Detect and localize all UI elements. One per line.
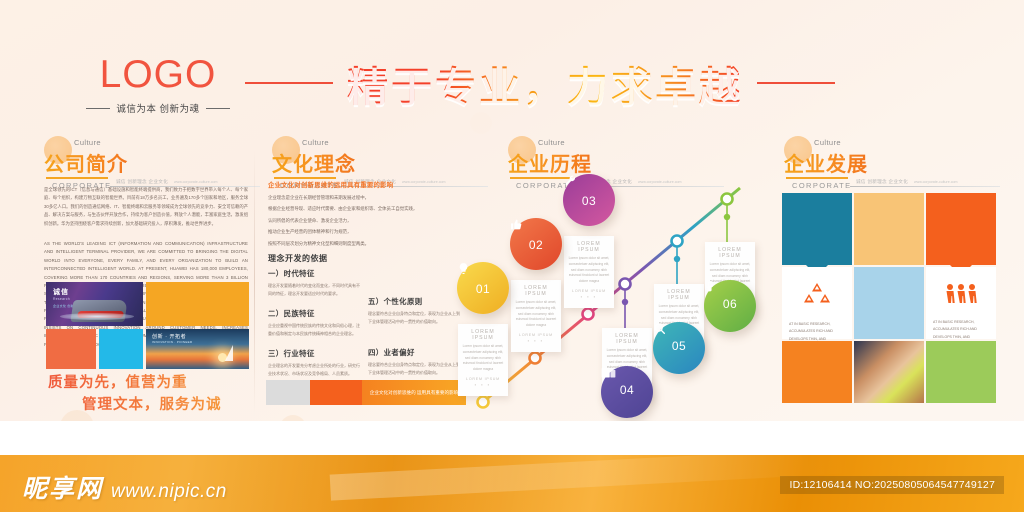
bar-segment-gray [266,380,310,405]
card-dots: ▪ ▪ ▪ [515,338,557,343]
card-heading: LOREM IPSUM [606,333,648,345]
culture-body: 企业理念是企业在长期经营管理和未期发展过程中， 根据企业经营导现、适应时代需要、… [268,192,458,249]
tile-green [926,341,996,403]
poster-canvas: LOGO 诚信为本 创新为魂 精于专业，力求卓越 Culture 公司简介 CO… [0,0,1024,512]
timeline-node-number: 01 [476,282,490,296]
section-title: 企业历程 [508,148,592,177]
section-tail-rule [850,186,1000,187]
section-header-company-history: Culture 企业历程 CORPORATE 诚信 创新理念 企业文化 www.… [508,140,592,177]
culture-body-line: 企业理念是企业在长期经营管理和未期发展过程中， [268,192,458,203]
timeline-node-06[interactable]: 06 [704,280,756,332]
timeline-node-number: 02 [529,238,543,252]
title-rule-left [245,82,333,84]
page-title: 精于专业，力求卓越 [347,53,743,113]
card-body: Lorem ipsum dolor sit amet, consectetuer… [462,344,504,373]
feature-title: 三）行业特征 [268,348,360,359]
section-title: 文化理念 [272,148,356,177]
photo-sunset-sailboat: 创新 · 开拓者 INNOVATION · PIONEER [146,329,249,369]
feature-item: 五）个性化原则 理念要符合企业自身特点和定位，表现为企业从上到下全体管理活动中的… [368,296,460,325]
watermark-brand-cn: 昵享网 [22,469,103,505]
tile-triangle-text: AT IN BASIC RESEARCH, ACCUMULATES RICH A… [782,267,852,339]
tile-lightblue [854,267,924,339]
timeline-card-01: LOREM IPSUM Lorem ipsum dolor sit amet, … [458,324,508,396]
footer-white-strip [0,421,1024,455]
photo-tech-sub: Research [53,297,70,301]
feature-body: 理念要符合企业自身特点和定位，表现为企业从上到下全体管理活动中的一贯性的价值取向… [368,361,460,376]
logo-block: LOGO 诚信为本 创新为魂 [58,55,258,115]
card-heading: LOREM IPSUM [515,285,557,297]
timeline-node-05[interactable]: 05 [653,322,705,374]
feature-body: 理念要符合企业自身特点和定位，表现为企业从上到下全体管理活动中的一贯性的价值取向… [368,310,460,325]
color-block-cyan [99,329,143,369]
timeline-node-04[interactable]: 04 [601,366,653,418]
timeline-card-02: LOREM IPSUM Lorem ipsum dolor sit amet, … [511,280,561,352]
card-heading: LOREM IPSUM [462,329,504,341]
feature-title: 一）时代特征 [268,268,360,279]
image-id-badge: ID:12106414 NO:20250805064547749127 [780,476,1004,494]
title-rule-right [757,82,835,84]
card-dots: ▪ ▪ ▪ [568,294,610,299]
culture-heading: 企业文化对创新思维的运用具有重要的影响 [268,180,458,189]
card-heading: LOREM IPSUM [658,289,700,301]
logo-text: LOGO [58,55,258,94]
section-tail-en: www.corporate-culture.com [914,180,958,184]
card-footer: LOREM IPSUM [462,377,504,381]
footer-watermark-band: 昵享网 www.nipic.cn ID:12106414 NO:20250805… [0,455,1024,512]
tile-people-text: AT IN BASIC RESEARCH, ACCUMULATES RICH A… [926,267,996,339]
logo-rule-left [86,108,110,109]
culture-body-line: 按照不同层次划分为精神文化型和细则制度型两类。 [268,238,458,249]
section-eyebrow: Culture [538,138,565,147]
tile-teal [782,193,852,265]
feature-title: 二）民族特征 [268,308,360,319]
card-dots: ▪ ▪ ▪ [462,382,504,387]
photo-tech-glow [60,313,134,320]
section-underline [274,177,336,179]
sailboat-icon [225,345,233,361]
timeline-node-number: 06 [723,297,737,311]
card-body: Lorem ipsum dolor sit amet, consectetuer… [515,300,557,329]
photo-tech-title: 诚信 [53,287,69,297]
card-heading: LOREM IPSUM [568,241,610,253]
photo-hands-together [854,341,924,403]
feature-item: 一）时代特征 理念开发要随着时代的变化而变化，不同时代具有不同的特征，理念开发要… [268,268,360,297]
section-header-company-development: Culture 企业发展 CORPORATE 诚信 创新理念 企业文化 www.… [784,140,868,177]
timeline-node-number: 04 [620,383,634,397]
logo-subtitle: 诚信为本 创新为魂 [58,101,258,115]
company-paragraph-cn: 是全球领先的ICT（信息与通信）基础设施和智能终端提供商，我们致力于把数字世界带… [44,186,248,228]
bar-segment-text: 企业文化对创新思维的 运用具有重要的影响 [362,380,466,405]
watermark: 昵享网 www.nipic.cn [22,469,227,505]
card-heading: LOREM IPSUM [709,247,751,259]
watermark-url: www.nipic.cn [111,481,227,503]
tile-orange-bottom [782,341,852,403]
photo-sunset-sub: INNOVATION · PIONEER [152,340,192,344]
section-eyebrow: Culture [302,138,329,147]
section-subtitle: CORPORATE [792,181,852,190]
timeline-node-number: 03 [582,194,596,208]
feature-body: 理念开发要随着时代的变化而变化，不同时代具有不同的特征，理念开发要适应时代的要求… [268,282,360,297]
feature-body: 企业应重视中国传统民族的传统文化和风俗心理，注重价值和制定与本民族传统精神相合的… [268,322,360,337]
feature-item: 二）民族特征 企业应重视中国传统民族的传统文化和风俗心理，注重价值和制定与本民族… [268,308,360,337]
slogan-line-2: 管理文本，服务为诚 [48,394,268,416]
people-group-icon [933,283,989,312]
card-footer: LOREM IPSUM [515,333,557,337]
logo-subtitle-text: 诚信为本 创新为魂 [116,101,199,115]
feature-column-right: 五）个性化原则 理念要符合企业自身特点和定位，表现为企业从上到下全体管理活动中的… [368,296,460,387]
section-tail-cn: 诚信 创新理念 企业文化 [116,179,168,185]
timeline-node-number: 05 [672,339,686,353]
photo-sunset-title: 创新 · 开拓者 [152,333,186,340]
company-slogan: 质量为先，值营为重 管理文本，服务为诚 [48,372,268,417]
triangle-group-icon [789,283,845,314]
slogan-line-1: 质量为先，值营为重 [48,375,188,391]
culture-body-line: 根据企业经营导现、适应时代需要、由企业家和组织等、全体员工自觉实践， [268,203,458,214]
main-title-block: 精于专业，力求卓越 [245,52,955,114]
feature-body: 企业理念的开发要充分考虑企业所处的行业，研究行业技术状况、市场状况及竞争格局、人… [268,362,360,377]
section-tail-cn: 诚信 创新理念 企业文化 [856,179,908,185]
timeline-node-03[interactable]: 03 [563,174,615,226]
card-body: Lorem ipsum dolor sit amet, consectetuer… [568,256,610,285]
timeline-card-03: LOREM IPSUM Lorem ipsum dolor sit amet, … [564,236,614,308]
feature-title: 五）个性化原则 [368,296,460,307]
feature-item: 三）行业特征 企业理念的开发要充分考虑企业所处的行业，研究行业技术状况、市场状况… [268,348,360,377]
timeline-infographic: LOREM IPSUM Lorem ipsum dolor sit amet, … [455,180,755,425]
section-underline [786,177,848,179]
tile-orange [926,193,996,265]
culture-color-bar: 企业文化对创新思维的 运用具有重要的影响 [266,380,466,405]
timeline-node-02[interactable]: 02 [510,218,562,270]
section-title: 企业发展 [784,148,868,177]
section-underline [46,177,108,179]
section-eyebrow: Culture [74,138,101,147]
culture-body-line: 认同所倡的代表企业使命、激发企业活力， [268,215,458,226]
section-eyebrow: Culture [814,138,841,147]
feature-column-left: 一）时代特征 理念开发要随着时代的变化而变化，不同时代具有不同的特征，理念开发要… [268,268,360,389]
section-title: 公司简介 [44,148,128,177]
logo-rule-right [206,108,230,109]
culture-body-line: 推动企业生产经营的团体精神和行为规范， [268,226,458,237]
photo-tech: 诚信 Research 企业文化 创新科技 [46,282,143,326]
section-header-company-profile: Culture 公司简介 CORPORATE 诚信 创新理念 企业文化 www.… [44,140,128,177]
timeline-node-01[interactable]: 01 [457,262,509,314]
color-block-coral [46,329,96,369]
tile-sand [854,193,924,265]
bar-segment-orange [310,380,362,405]
bg-dot [470,112,492,134]
culture-subheading: 理念开发的依据 [268,253,328,264]
feature-item: 四）业者偏好 理念要符合企业自身特点和定位，表现为企业从上到下全体管理活动中的一… [368,347,460,376]
section-tail-en: www.corporate-culture.com [174,180,218,184]
card-footer: LOREM IPSUM [568,289,610,293]
development-tile-grid: AT IN BASIC RESEARCH, ACCUMULATES RICH A… [782,193,1004,415]
section-header-culture-concept: Culture 文化理念 CORPORATE 诚信 创新理念 企业文化 www.… [272,140,356,177]
color-block-orange-light [146,282,249,326]
feature-title: 四）业者偏好 [368,347,460,358]
